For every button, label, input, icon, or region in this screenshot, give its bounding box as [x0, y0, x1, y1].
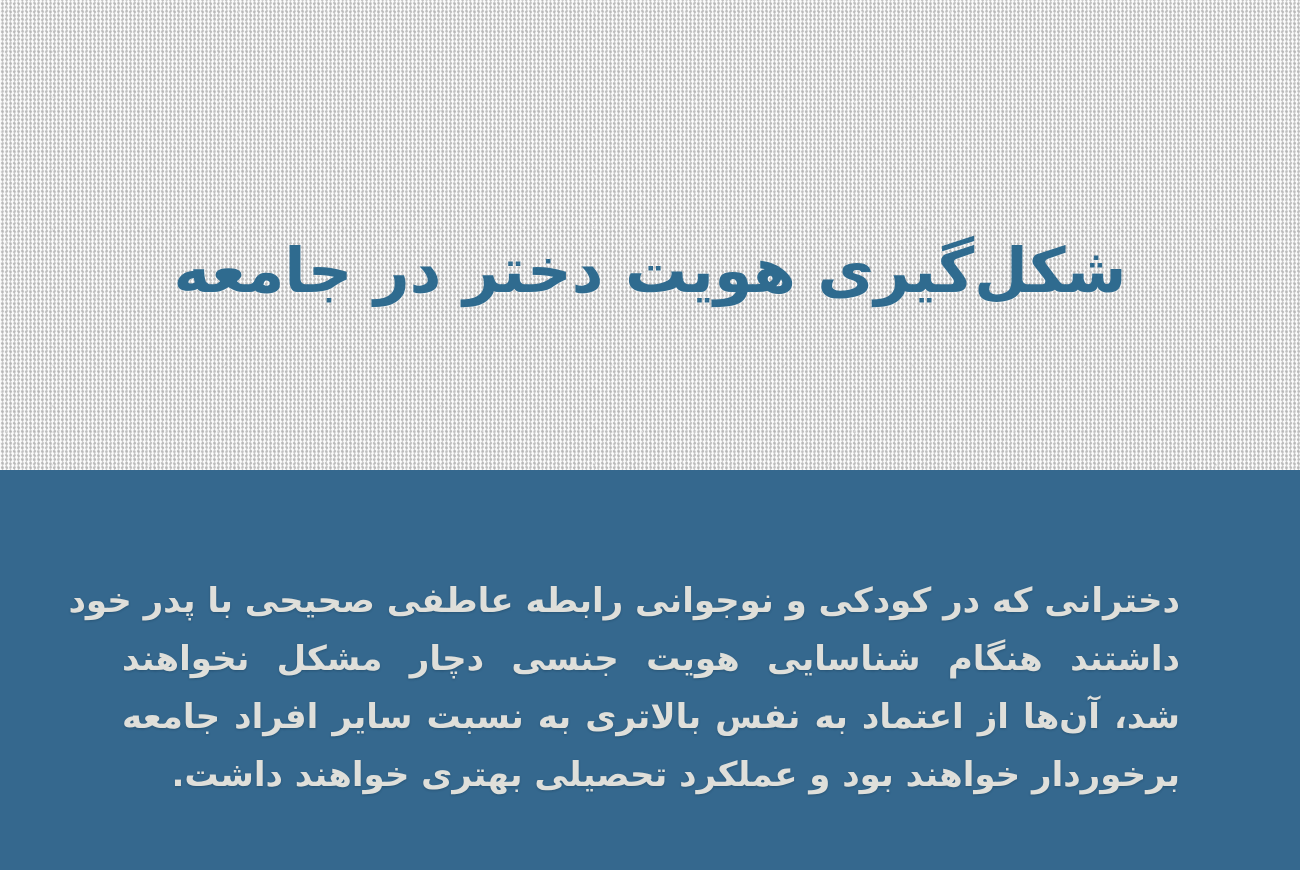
paragraph-line: داشتند هنگام شناسایی هویت جنسی دچار مشکل…: [122, 630, 1180, 688]
paragraph-line: دخترانی که در کودکی و نوجوانی رابطه عاطف…: [122, 572, 1180, 630]
page-title: شکل‌گیری هویت دختر در جامعه: [173, 238, 1126, 305]
body-paragraph: دخترانی که در کودکی و نوجوانی رابطه عاطف…: [122, 572, 1180, 804]
paragraph-line: برخوردار خواهند بود و عملکرد تحصیلی بهتر…: [122, 746, 1180, 804]
title-container: شکل‌گیری هویت دختر در جامعه: [0, 196, 1300, 346]
poster-canvas: شکل‌گیری هویت دختر در جامعه دخترانی که د…: [0, 0, 1300, 870]
paragraph-line: شد، آن‌ها از اعتماد به نفس بالاتری به نس…: [122, 688, 1180, 746]
